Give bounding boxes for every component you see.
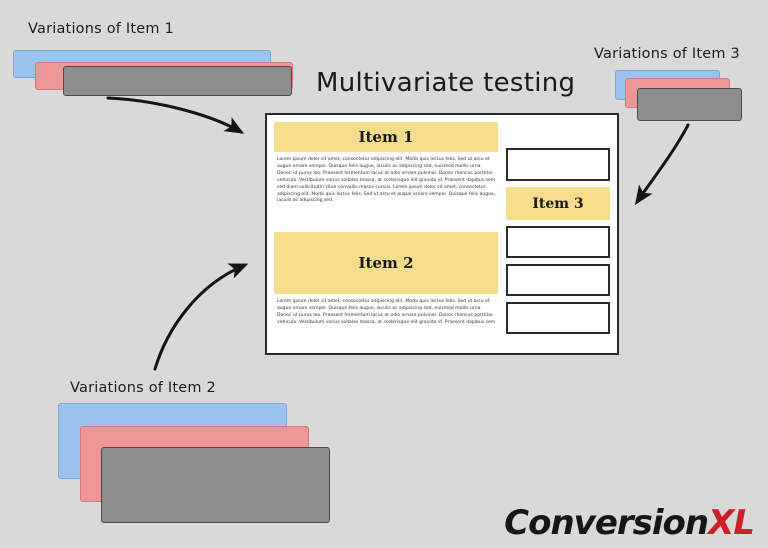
logo-accent-text: XL: [708, 503, 754, 543]
page-title: Multivariate testing: [316, 68, 575, 98]
arrow-item2-to-mockup-icon: [145, 245, 270, 375]
stack-label-item-2: Variations of Item 2: [70, 380, 216, 396]
item-3-block[interactable]: Item 3: [506, 187, 610, 220]
variation-card-gray-item-2: [101, 447, 330, 523]
sidebar-blank-slot-1[interactable]: [506, 148, 610, 181]
sidebar-blank-slot-3[interactable]: [506, 264, 610, 296]
item-1-label: Item 1: [358, 128, 413, 146]
item-1-block[interactable]: Item 1: [274, 122, 498, 152]
mockup-main-column: Item 1 Lorem ipsum dolor sit amet, conse…: [274, 122, 498, 346]
mockup-sidebar-column: Item 3: [506, 122, 610, 346]
item-2-block[interactable]: Item 2: [274, 232, 498, 294]
mockup-page: Item 1 Lorem ipsum dolor sit amet, conse…: [265, 113, 619, 355]
sidebar-blank-slot-4[interactable]: [506, 302, 610, 334]
arrow-item1-to-mockup-icon: [105, 90, 275, 150]
stack-label-item-1: Variations of Item 1: [28, 21, 174, 37]
stack-label-item-3: Variations of Item 3: [594, 46, 740, 62]
item-3-label: Item 3: [532, 196, 583, 212]
item-2-label: Item 2: [358, 254, 413, 272]
infographic-canvas: Variations of Item 1 Variations of Item …: [0, 0, 768, 548]
sidebar-blank-slot-2[interactable]: [506, 226, 610, 258]
variation-card-gray-item-1: [63, 66, 292, 96]
logo-primary-text: Conversion: [504, 503, 708, 543]
variation-card-gray-item-3: [637, 88, 742, 121]
conversionxl-logo: ConversionXL: [504, 506, 754, 540]
lorem-paragraph-bottom: Lorem ipsum dolor sit amet, consectetur …: [274, 294, 498, 346]
lorem-paragraph-top: Lorem ipsum dolor sit amet, consectetur …: [274, 152, 498, 226]
